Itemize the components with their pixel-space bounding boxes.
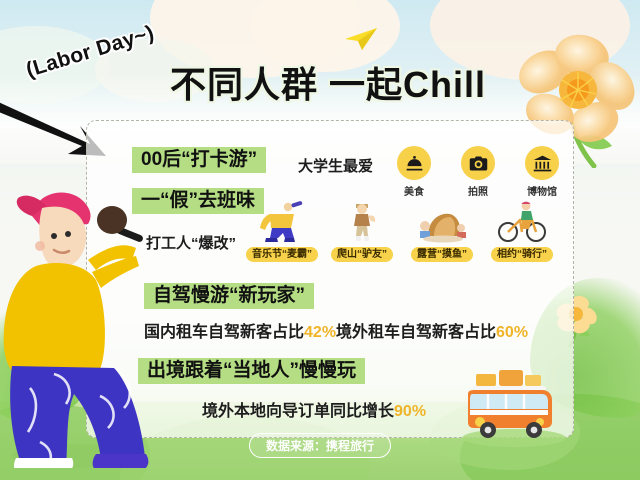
interest-label: 博物馆: [520, 183, 564, 198]
cycling-illustration: [486, 198, 558, 244]
camera-icon: [461, 146, 495, 180]
activity-label: 露营“摸鱼”: [411, 247, 473, 262]
paper-plane-icon: [344, 26, 378, 52]
stat-domestic-label: 国内租车自驾新客占比: [144, 324, 304, 341]
food-icon: [397, 146, 431, 180]
stat-guide-value: 90%: [394, 403, 426, 420]
note-worker-makeover: 打工人“爆改”: [146, 232, 236, 253]
activity-label: 相约“骑行”: [491, 247, 553, 262]
source-badge: 数据来源：携程旅行: [249, 433, 391, 458]
interest-icon-group: 美食 拍照 博物馆: [392, 146, 564, 198]
activity-label: 音乐节“麦霸”: [246, 247, 318, 262]
camping-illustration: [406, 198, 478, 244]
interest-item-photo: 拍照: [456, 146, 500, 198]
music-festival-illustration: [246, 198, 318, 244]
stat-overseas-value: 60%: [496, 324, 528, 341]
activity-item-music: 音乐节“麦霸”: [246, 198, 318, 262]
page-title: 不同人群 一起Chill: [170, 56, 486, 108]
stat-guide-label: 境外本地向导订单同比增长: [202, 403, 394, 420]
interest-item-food: 美食: [392, 146, 436, 198]
tag-selfdrive: 自驾慢游“新玩家”: [144, 283, 314, 309]
interest-label: 美食: [392, 183, 436, 198]
activity-item-cycling: 相约“骑行”: [486, 198, 558, 262]
note-college-favorite: 大学生最爱: [298, 155, 373, 176]
tag-outbound-local: 出境跟着“当地人”慢慢玩: [138, 358, 365, 384]
infographic-poster: (Labor Day~) 不同人群 一起Chill 00后“打卡游” 一“假”去…: [0, 0, 640, 480]
activity-label: 爬山“驴友”: [331, 247, 393, 262]
stat-domestic-rental: 国内租车自驾新客占比42%: [144, 318, 336, 342]
stat-domestic-value: 42%: [304, 324, 336, 341]
hiking-illustration: [326, 198, 398, 244]
camper-bus-illustration: [452, 364, 570, 448]
activity-item-camping: 露营“摸鱼”: [406, 198, 478, 262]
stat-overseas-label: 境外租车自驾新客占比: [336, 324, 496, 341]
museum-icon: [525, 146, 559, 180]
activity-item-hiking: 爬山“驴友”: [326, 198, 398, 262]
interest-item-museum: 博物馆: [520, 146, 564, 198]
interest-label: 拍照: [456, 183, 500, 198]
singer-illustration: [0, 168, 156, 468]
stat-overseas-rental: 境外租车自驾新客占比60%: [336, 318, 528, 342]
stat-local-guide: 境外本地向导订单同比增长90%: [202, 397, 426, 421]
activity-group: 音乐节“麦霸” 爬山“驴友”: [246, 198, 558, 262]
